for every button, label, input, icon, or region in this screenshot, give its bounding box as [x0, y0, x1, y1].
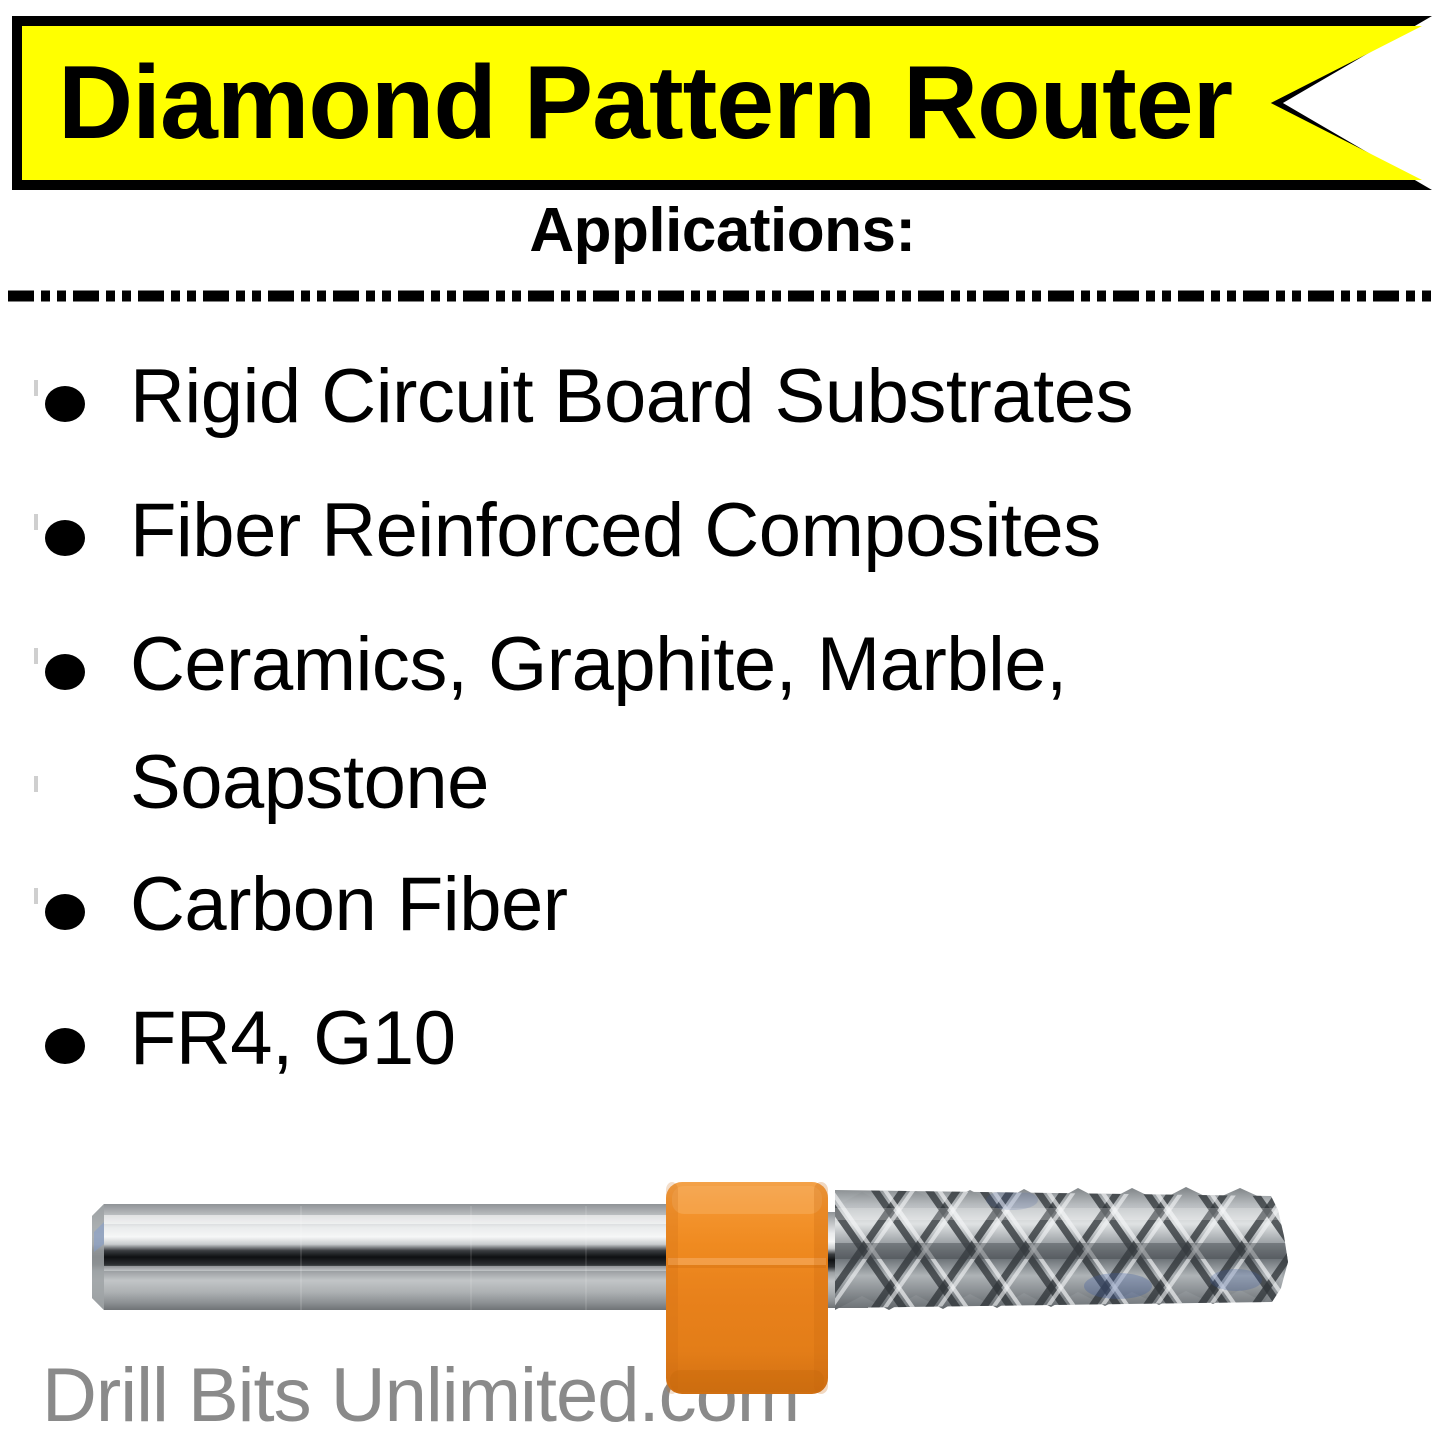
bullet-icon [45, 1028, 85, 1064]
bullet-icon [45, 654, 85, 690]
list-item-label: Rigid Circuit Board Substrates [130, 338, 1445, 456]
scan-artifact [34, 380, 38, 396]
list-item: Ceramics, Graphite, Marble, Soapstone [0, 606, 1445, 846]
list-item-label: Fiber Reinforced Composites [130, 472, 1445, 590]
list-item: Fiber Reinforced Composites [0, 472, 1445, 606]
applications-list: Rigid Circuit Board Substrates Fiber Rei… [0, 338, 1445, 1114]
page-title: Diamond Pattern Router [58, 51, 1232, 155]
bullet-icon [45, 894, 85, 930]
scan-artifact [34, 514, 38, 530]
watermark-text: Drill Bits Unlimited.com [42, 1358, 799, 1434]
bullet-icon [45, 386, 85, 422]
applications-heading: Applications: [0, 200, 1445, 262]
scan-artifact [34, 888, 38, 904]
list-item-label: FR4, G10 [130, 980, 1445, 1098]
list-item: Carbon Fiber [0, 846, 1445, 980]
list-item: Rigid Circuit Board Substrates [0, 338, 1445, 472]
bit-shank [92, 1204, 690, 1310]
list-item-label: Carbon Fiber [130, 846, 1445, 964]
scan-artifact [34, 776, 38, 792]
title-banner: Diamond Pattern Router [12, 16, 1432, 190]
bullet-icon [45, 520, 85, 556]
product-image-canvas: Diamond Pattern Router Applications: Rig… [0, 0, 1445, 1445]
scan-artifact [34, 648, 38, 664]
dashed-divider [8, 290, 1436, 302]
list-item-label: Ceramics, Graphite, Marble, Soapstone [130, 606, 1445, 842]
list-item: FR4, G10 [0, 980, 1445, 1114]
